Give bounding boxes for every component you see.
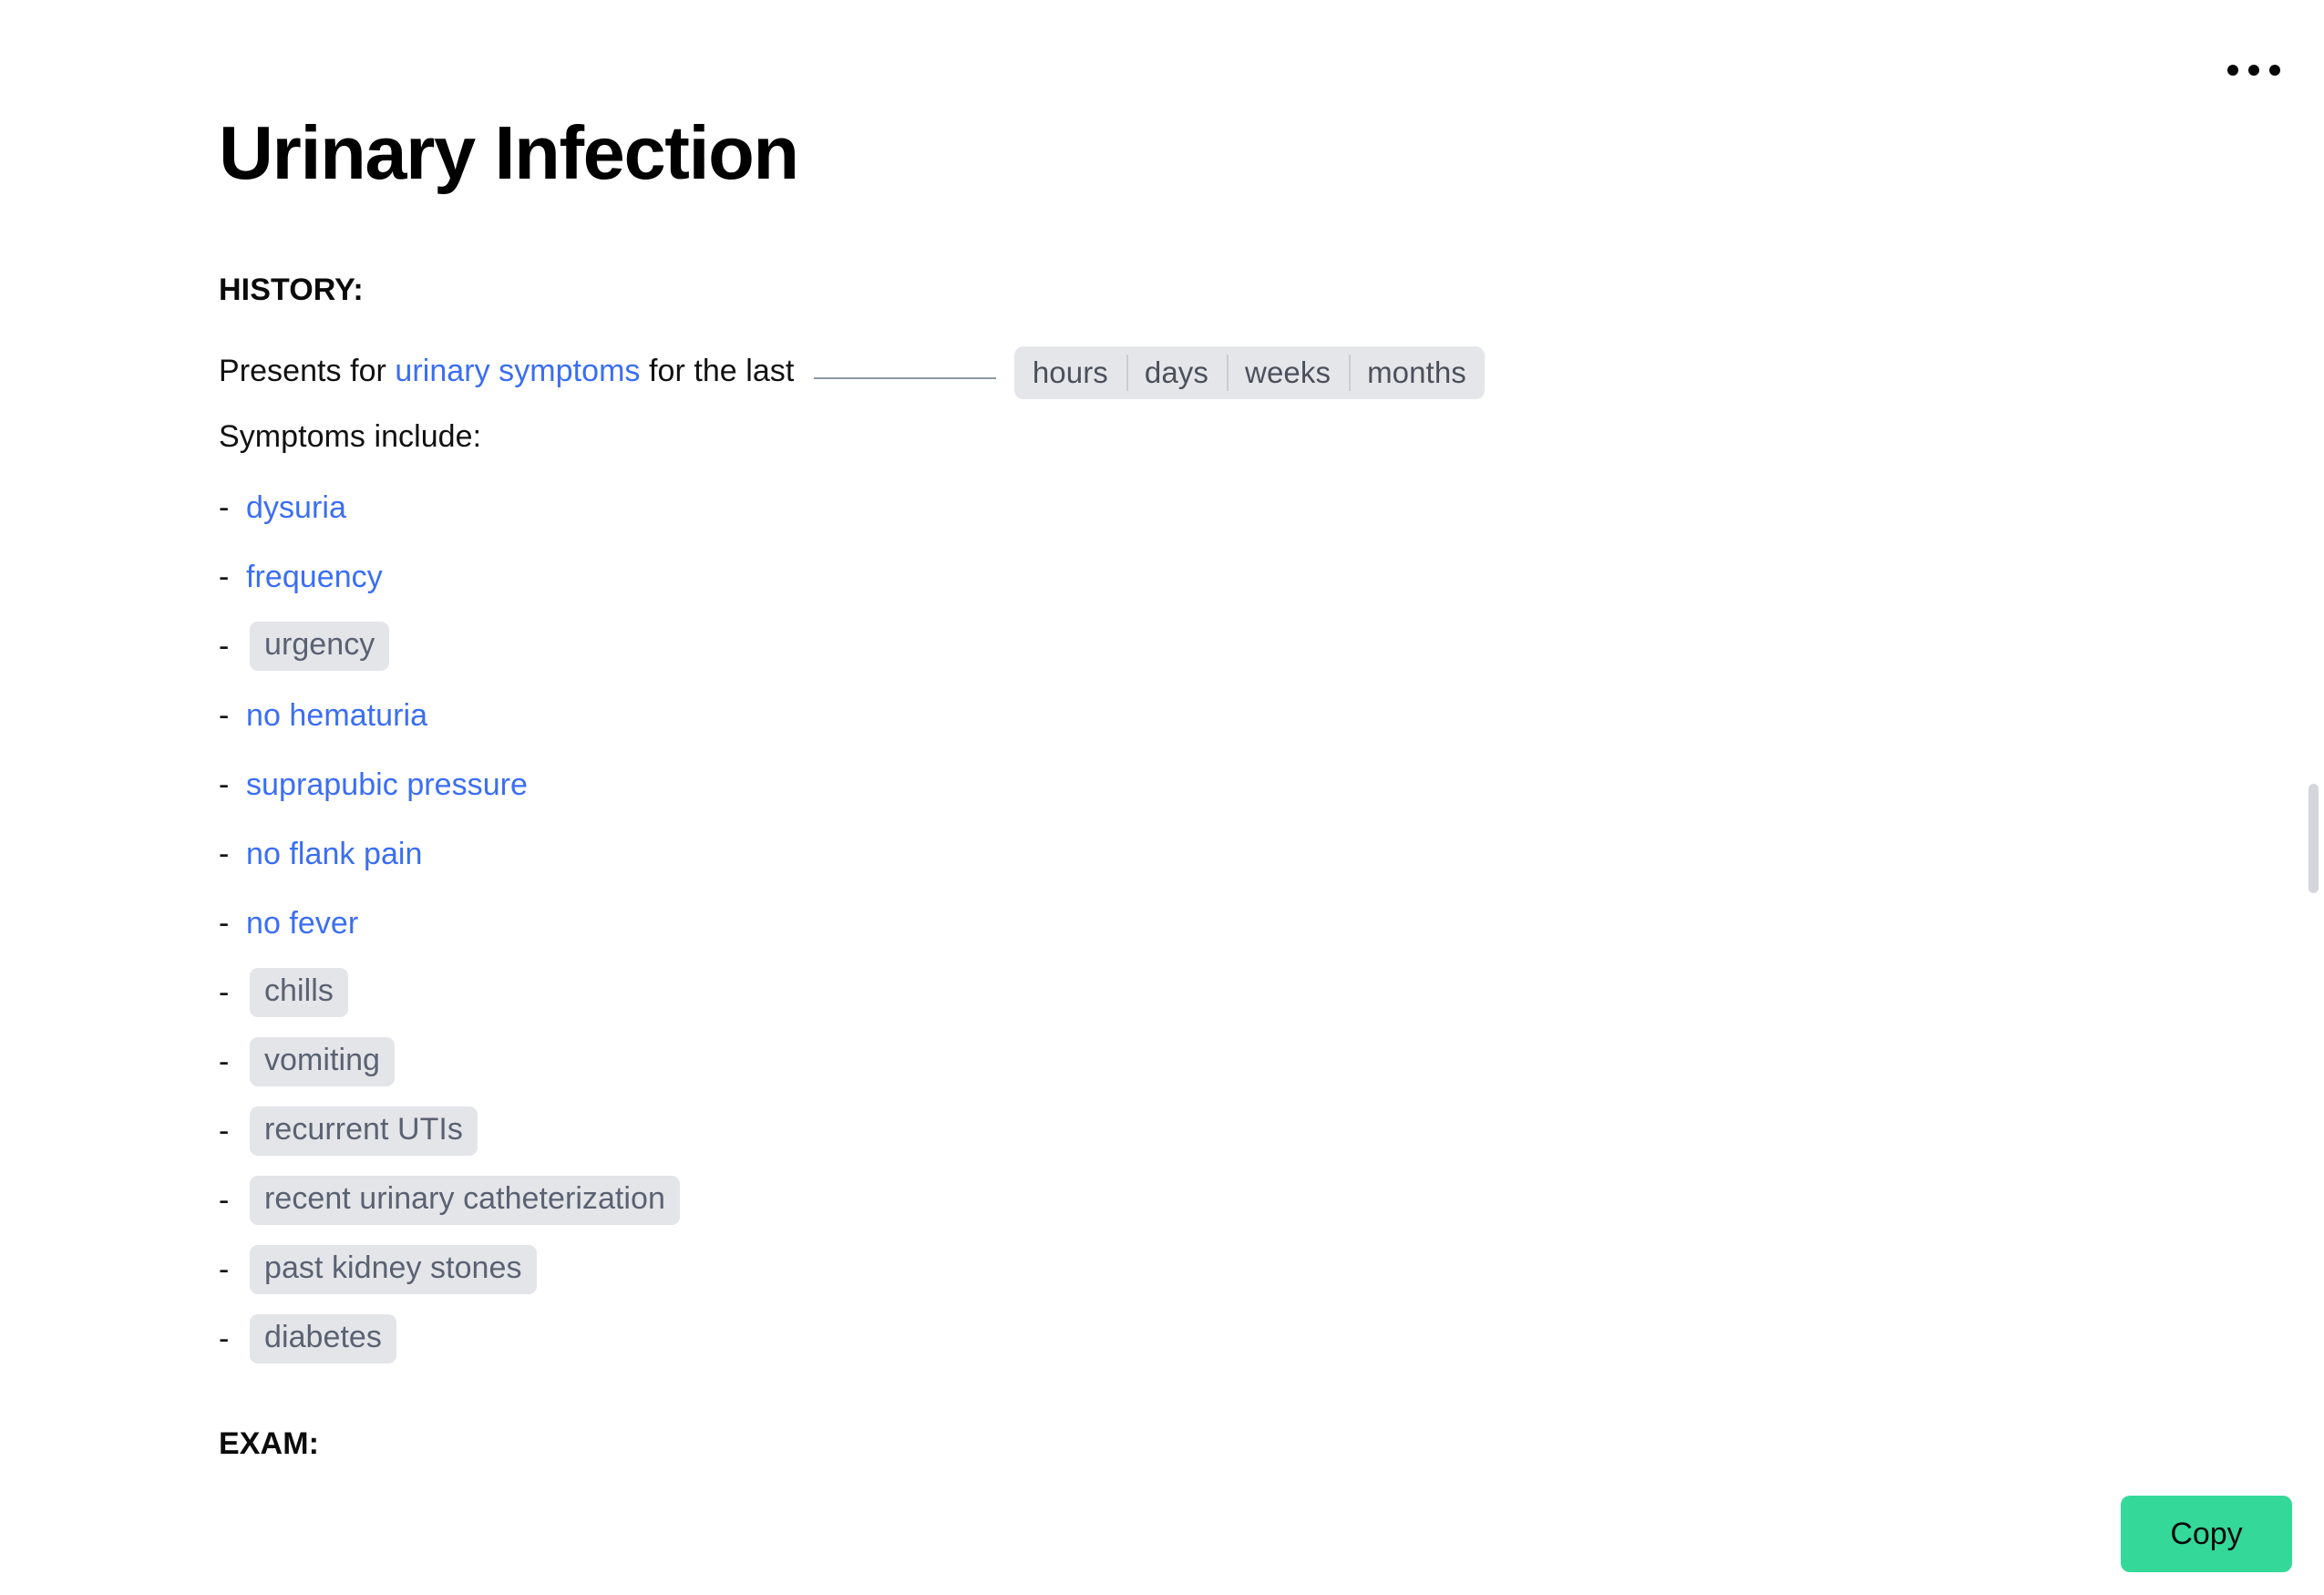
duration-blank-input[interactable] <box>814 377 996 379</box>
ellipsis-horizontal-icon-dot-2 <box>2248 65 2259 76</box>
bullet-dash: - <box>219 1114 246 1149</box>
history-sentence-middle: for the last <box>641 354 803 388</box>
symptom-frequency[interactable]: frequency <box>246 560 383 595</box>
unit-option-hours[interactable]: hours <box>1014 346 1126 399</box>
list-item: - suprapubic pressure <box>219 750 2206 819</box>
bullet-dash: - <box>219 767 246 803</box>
bullet-dash: - <box>219 1322 246 1357</box>
symptom-no-hematuria[interactable]: no hematuria <box>246 698 427 734</box>
bullet-dash: - <box>219 490 246 526</box>
list-item: - diabetes <box>219 1304 2206 1374</box>
history-sentence-prefix: Presents for <box>219 354 395 388</box>
ellipsis-horizontal-icon-dot-1 <box>2227 65 2238 76</box>
symptom-urgency[interactable]: urgency <box>250 622 389 670</box>
list-item: - vomiting <box>219 1027 2206 1096</box>
unit-option-months[interactable]: months <box>1349 346 1485 399</box>
symptom-no-fever[interactable]: no fever <box>246 906 358 942</box>
list-item: - urgency <box>219 612 2206 681</box>
unit-option-days[interactable]: days <box>1126 346 1227 399</box>
bullet-dash: - <box>219 560 246 595</box>
document-page: Urinary Infection HISTORY: Presents for … <box>0 0 2324 1595</box>
list-item: - no hematuria <box>219 681 2206 750</box>
list-item: - no flank pain <box>219 819 2206 889</box>
symptom-recurrent-utis[interactable]: recurrent UTIs <box>250 1106 478 1155</box>
symptom-past-kidney-stones[interactable]: past kidney stones <box>250 1245 537 1293</box>
copy-button[interactable]: Copy <box>2121 1496 2292 1572</box>
ellipsis-horizontal-icon-dot-3 <box>2269 65 2280 76</box>
bullet-dash: - <box>219 1044 246 1080</box>
unit-option-weeks[interactable]: weeks <box>1227 346 1349 399</box>
history-heading: HISTORY: <box>219 273 2206 308</box>
scrollbar-thumb[interactable] <box>2309 784 2319 893</box>
symptom-recent-urinary-catheterization[interactable]: recent urinary catheterization <box>250 1176 680 1224</box>
bullet-dash: - <box>219 906 246 942</box>
history-sentence: Presents for urinary symptoms for the la… <box>219 346 2206 399</box>
bullet-dash: - <box>219 1183 246 1219</box>
bullet-dash: - <box>219 1252 246 1288</box>
list-item: - recent urinary catheterization <box>219 1166 2206 1235</box>
list-item: - dysuria <box>219 473 2206 542</box>
bullet-dash: - <box>219 837 246 872</box>
scrollbar[interactable] <box>2304 0 2324 1595</box>
duration-unit-segmented-control[interactable]: hoursdaysweeksmonths <box>1014 346 1485 399</box>
symptom-dysuria[interactable]: dysuria <box>246 490 346 526</box>
overflow-menu-button[interactable] <box>2220 47 2288 93</box>
symptoms-intro: Symptoms include: <box>219 419 2206 455</box>
list-item: - past kidney stones <box>219 1235 2206 1304</box>
list-item: - recurrent UTIs <box>219 1096 2206 1166</box>
symptom-chills[interactable]: chills <box>250 968 348 1016</box>
bullet-dash: - <box>219 975 246 1011</box>
bullet-dash: - <box>219 698 246 734</box>
list-item: - no fever <box>219 889 2206 958</box>
list-item: - frequency <box>219 542 2206 612</box>
document-content: Urinary Infection HISTORY: Presents for … <box>219 0 2206 1462</box>
exam-heading: EXAM: <box>219 1426 2206 1462</box>
symptom-list: - dysuria - frequency - urgency - no hem… <box>219 473 2206 1374</box>
symptom-suprapubic-pressure[interactable]: suprapubic pressure <box>246 767 528 803</box>
list-item: - chills <box>219 958 2206 1027</box>
symptom-no-flank-pain[interactable]: no flank pain <box>246 837 422 872</box>
symptom-diabetes[interactable]: diabetes <box>250 1314 396 1363</box>
symptom-vomiting[interactable]: vomiting <box>250 1037 395 1086</box>
bullet-dash: - <box>219 629 246 664</box>
urinary-symptoms-link[interactable]: urinary symptoms <box>395 354 640 388</box>
page-title: Urinary Infection <box>219 0 2206 190</box>
